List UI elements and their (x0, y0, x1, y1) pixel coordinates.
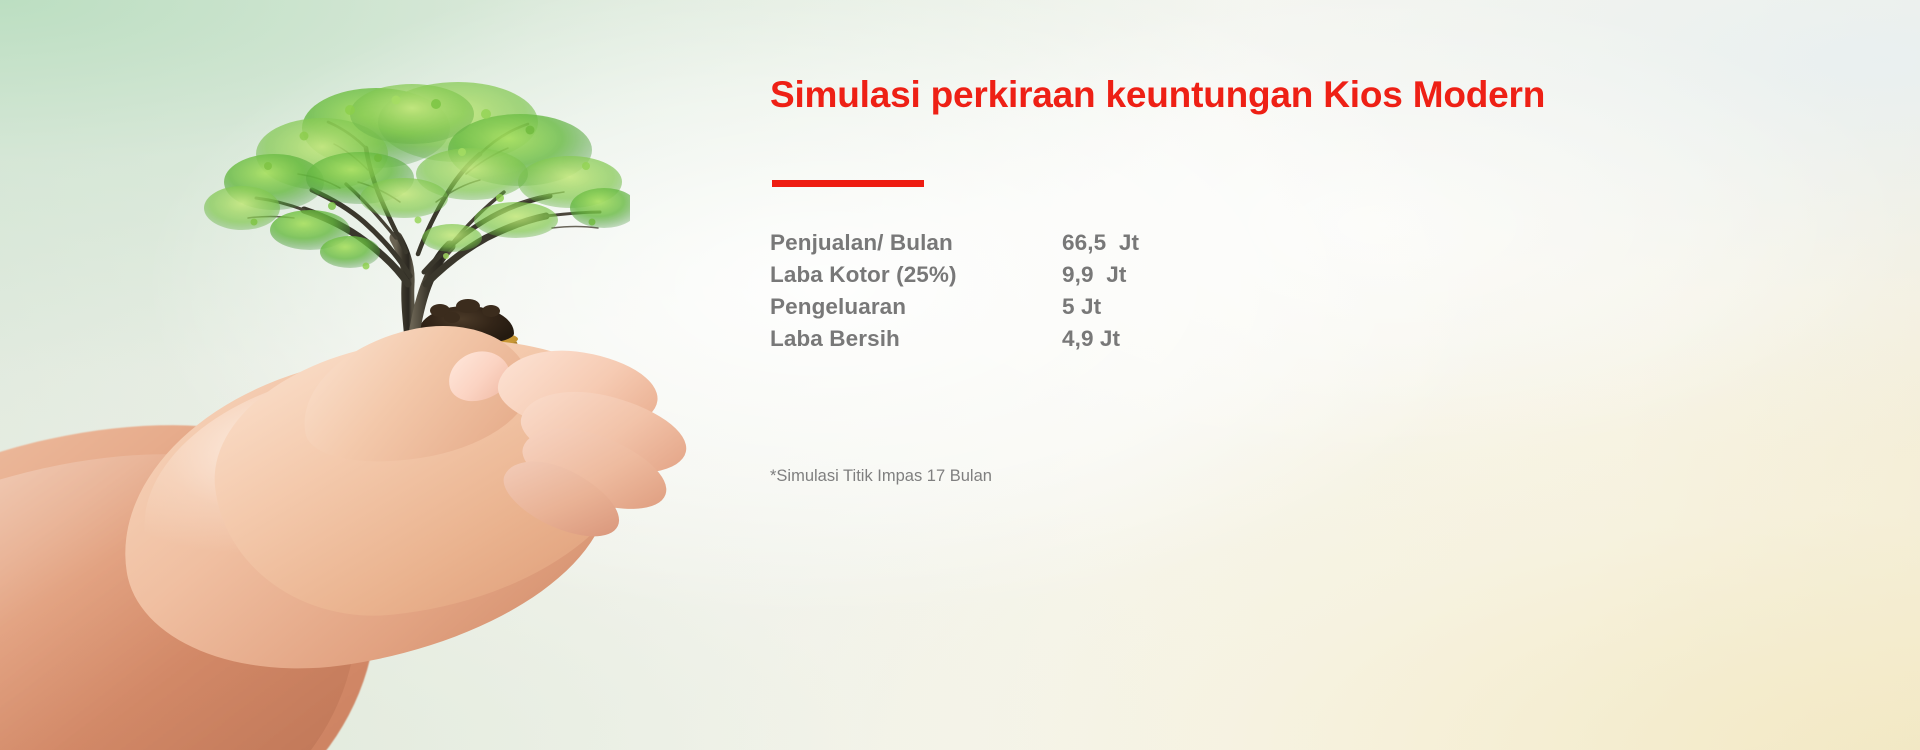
row-label: Penjualan/ Bulan (770, 230, 1062, 256)
promo-banner: Simulasi perkiraan keuntungan Kios Moder… (0, 0, 1920, 750)
table-row: Penjualan/ Bulan 66,5 Jt (770, 230, 1139, 262)
banner-content: Simulasi perkiraan keuntungan Kios Moder… (0, 0, 1920, 750)
table-row: Pengeluaran 5 Jt (770, 294, 1139, 326)
table-row: Laba Kotor (25%) 9,9 Jt (770, 262, 1139, 294)
footnote-text: *Simulasi Titik Impas 17 Bulan (770, 467, 992, 486)
row-label: Pengeluaran (770, 294, 1062, 320)
row-value: 5 Jt (1062, 294, 1101, 320)
row-value: 4,9 Jt (1062, 326, 1120, 352)
simulation-table: Penjualan/ Bulan 66,5 Jt Laba Kotor (25%… (770, 230, 1139, 358)
row-value: 9,9 Jt (1062, 262, 1127, 288)
table-row: Laba Bersih 4,9 Jt (770, 326, 1139, 358)
row-label: Laba Bersih (770, 326, 1062, 352)
page-title: Simulasi perkiraan keuntungan Kios Moder… (770, 74, 1545, 116)
red-divider-rule (772, 180, 924, 187)
row-label: Laba Kotor (25%) (770, 262, 1062, 288)
row-value: 66,5 Jt (1062, 230, 1139, 256)
